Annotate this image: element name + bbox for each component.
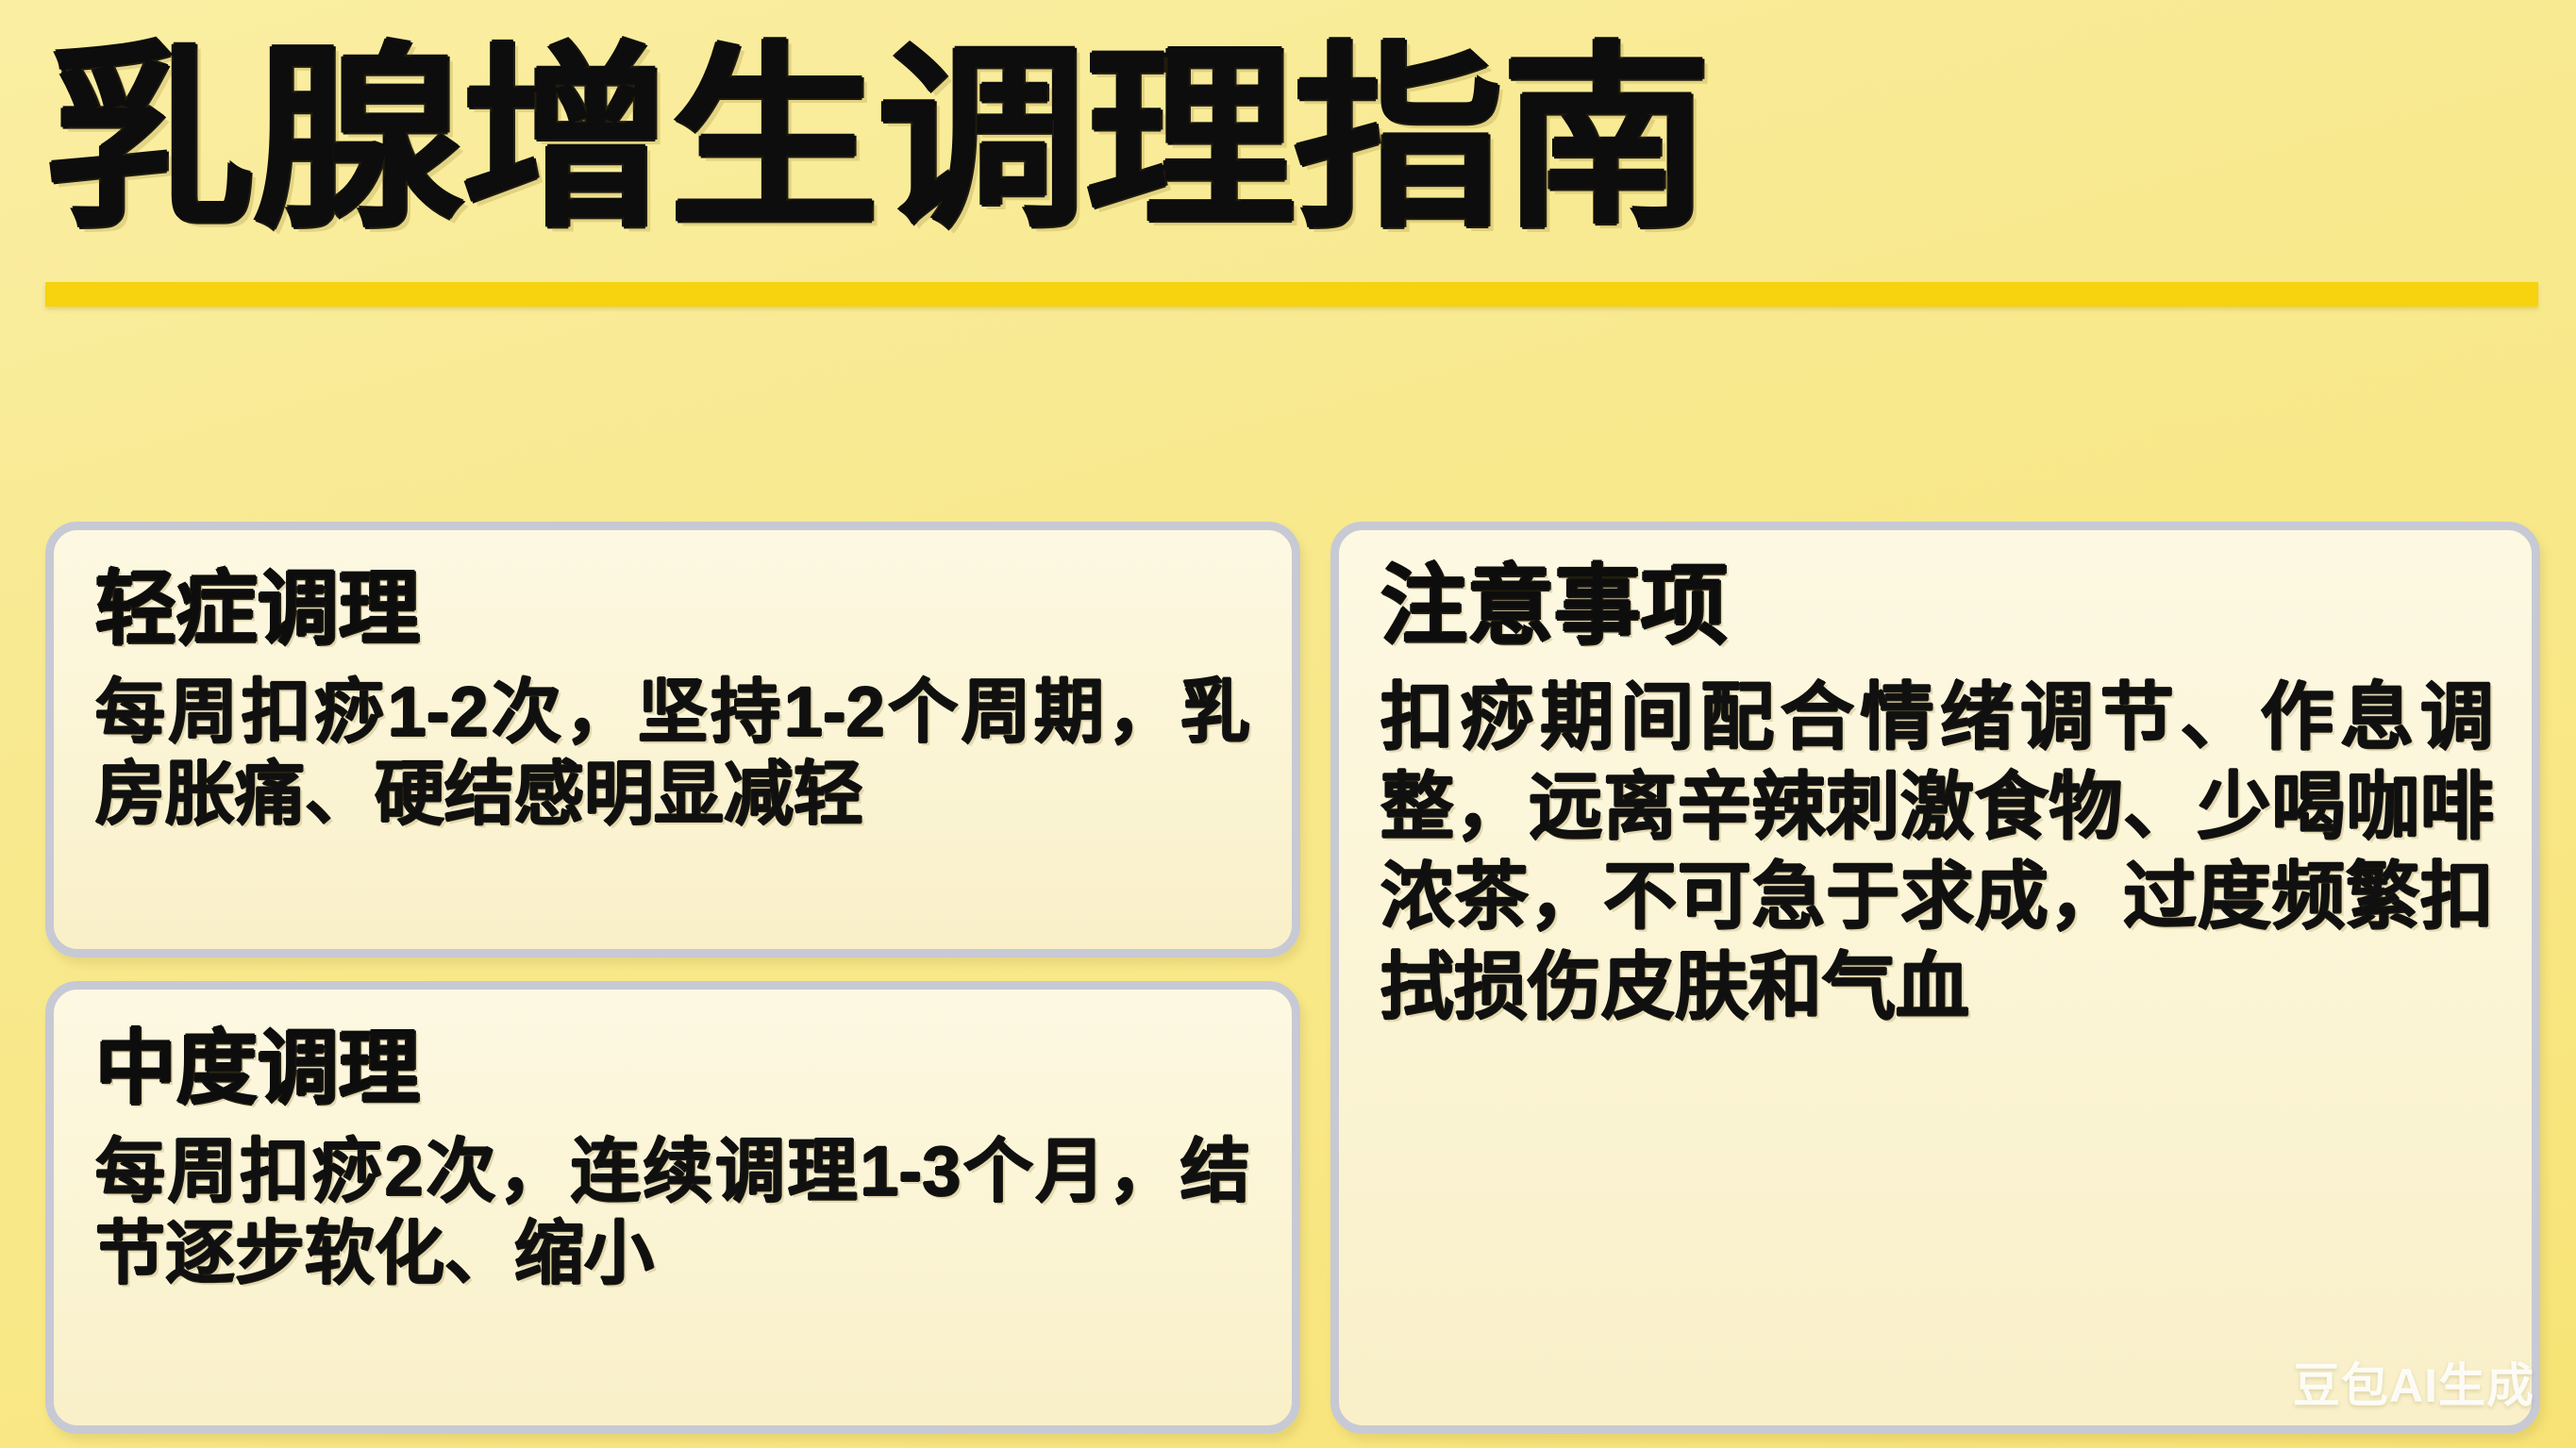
poster-canvas: 乳腺增生调理指南 轻症调理 每周扣痧1-2次，坚持1-2个周期，乳房胀痛、硬结感… (0, 0, 2576, 1448)
card-moderate-condition-body: 每周扣痧2次，连续调理1-3个月，结节逐步软化、缩小 (95, 1131, 1250, 1294)
card-moderate-condition-inner: 中度调理 每周扣痧2次，连续调理1-3个月，结节逐步软化、缩小 (54, 990, 1292, 1313)
title-underline-bar (45, 282, 2538, 307)
card-precautions: 注意事项 扣痧期间配合情绪调节、作息调整，远离辛辣刺激食物、少喝咖啡浓茶，不可急… (1330, 522, 2540, 1434)
card-precautions-heading: 注意事项 (1380, 558, 1728, 656)
card-moderate-condition: 中度调理 每周扣痧2次，连续调理1-3个月，结节逐步软化、缩小 (45, 981, 1300, 1434)
card-moderate-condition-heading-text: 中度调理 (95, 1024, 420, 1114)
card-light-condition-inner: 轻症调理 每周扣痧1-2次，坚持1-2个周期，乳房胀痛、硬结感明显减轻 (54, 530, 1292, 854)
card-precautions-heading-text: 注意事项 (1380, 558, 1728, 655)
card-moderate-condition-heading: 中度调理 (95, 1024, 420, 1114)
card-light-condition-heading: 轻症调理 (95, 564, 420, 655)
card-light-condition: 轻症调理 每周扣痧1-2次，坚持1-2个周期，乳房胀痛、硬结感明显减轻 (45, 522, 1300, 957)
page-title: 乳腺增生调理指南 (45, 42, 2576, 240)
card-light-condition-body: 每周扣痧1-2次，坚持1-2个周期，乳房胀痛、硬结感明显减轻 (95, 672, 1250, 835)
poster-title-block: 乳腺增生调理指南 (45, 42, 2555, 240)
card-precautions-inner: 注意事项 扣痧期间配合情绪调节、作息调整，远离辛辣刺激食物、少喝咖啡浓茶，不可急… (1339, 530, 2532, 1051)
card-light-condition-heading-text: 轻症调理 (95, 564, 420, 655)
card-precautions-body: 扣痧期间配合情绪调节、作息调整，远离辛辣刺激食物、少喝咖啡浓茶，不可急于求成，过… (1380, 673, 2494, 1032)
